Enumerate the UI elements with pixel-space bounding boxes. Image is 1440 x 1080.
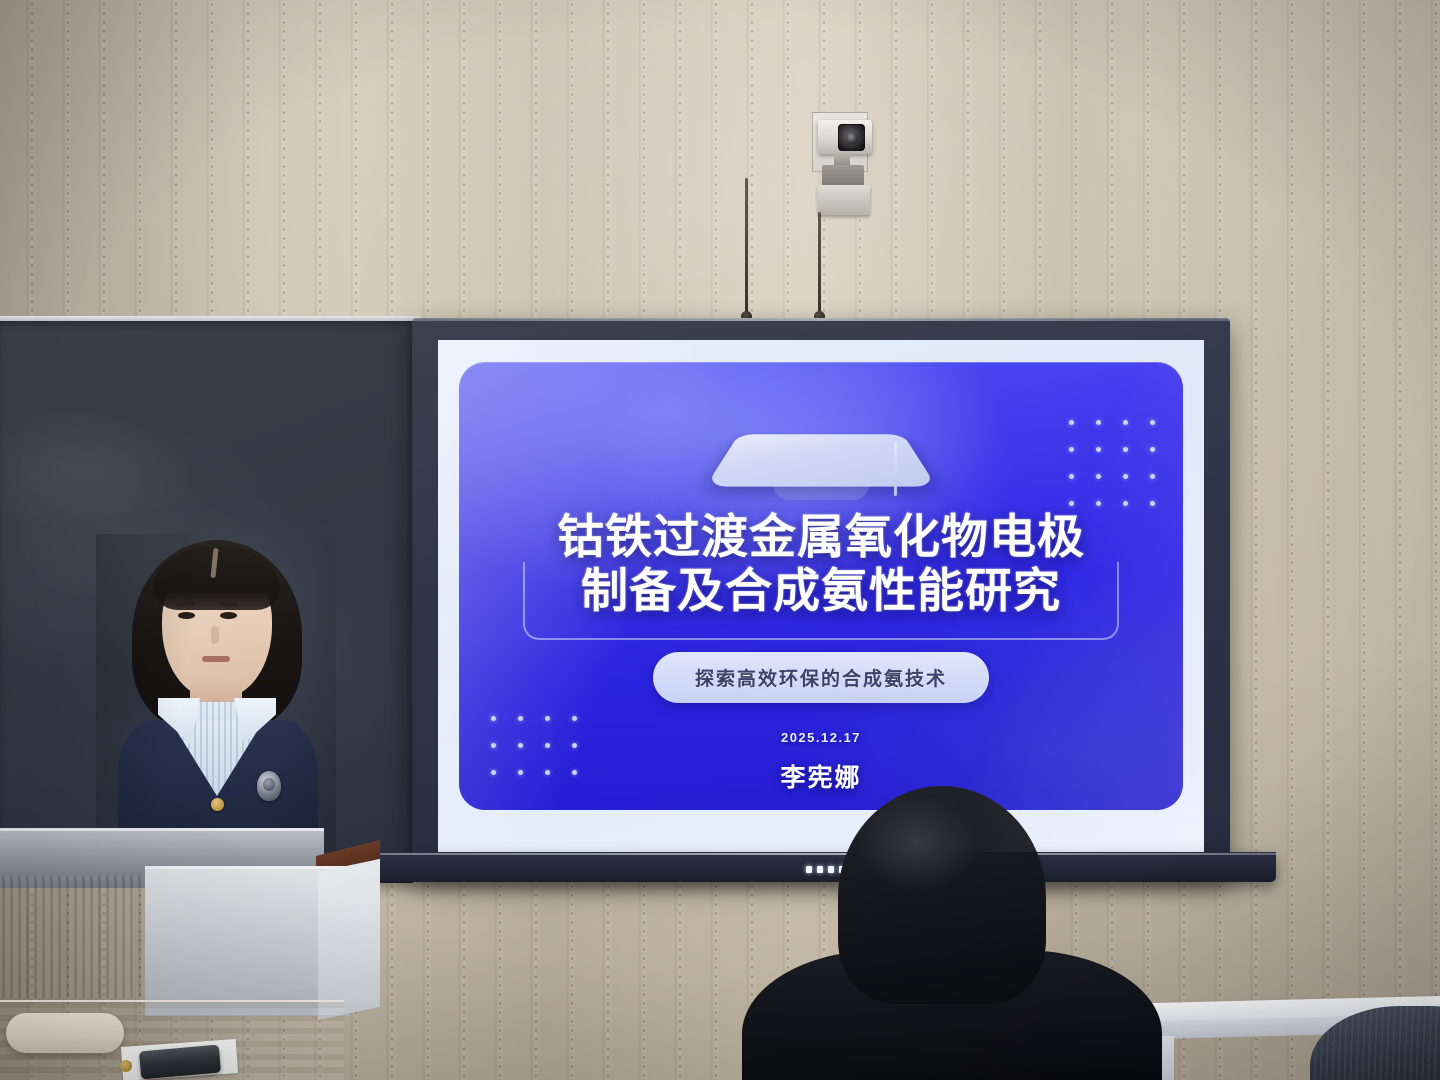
slide-subtitle-text: 探索高效环保的合成氨技术: [695, 669, 947, 690]
display-bottom-highlight: [366, 853, 1276, 855]
presenter-eye-left: [178, 612, 195, 619]
slide-subtitle-pill: 探索高效环保的合成氨技术: [653, 652, 989, 703]
camera-lens-icon: [838, 124, 865, 151]
camera-mount-bracket: [822, 165, 864, 187]
graduation-cap-icon: [711, 402, 931, 522]
camera-base: [818, 185, 870, 215]
pencil-case[interactable]: [6, 1013, 124, 1053]
lectern-wood-panel: [0, 876, 146, 998]
slide-presenter-name: 李宪娜: [780, 758, 861, 794]
audience-member-front-head: [838, 786, 1046, 1004]
slide-title-line-1: 钴铁过渡金属氧化物电极: [511, 510, 1131, 564]
presenter-eye-right: [220, 612, 237, 619]
keyring[interactable]: [120, 1060, 132, 1072]
graduation-cap-tassel: [894, 442, 897, 496]
classroom-scene: 钴铁过渡金属氧化物电极 制备及合成氨性能研究 探索高效环保的合成氨技术 2025…: [0, 0, 1440, 1080]
slide-date: 2025.12.17: [781, 730, 861, 745]
dot-grid-bottom-left: [491, 716, 577, 780]
antenna-left: [745, 178, 748, 316]
lectern-side-panel: [318, 859, 380, 1020]
slide-title: 钴铁过渡金属氧化物电极 制备及合成氨性能研究: [511, 510, 1131, 617]
graduation-cap-board: [705, 434, 936, 486]
presenter-nose: [211, 626, 219, 644]
antenna-right: [818, 212, 821, 316]
display-top-highlight: [412, 318, 1230, 321]
dot-grid-top-right: [1069, 420, 1155, 506]
slide-title-line-2: 制备及合成氨性能研究: [511, 564, 1131, 618]
presenter-mouth: [202, 656, 230, 662]
presentation-slide: 钴铁过渡金属氧化物电极 制备及合成氨性能研究 探索高效环保的合成氨技术 2025…: [438, 340, 1204, 852]
slide-content-card: 钴铁过渡金属氧化物电极 制备及合成氨性能研究 探索高效环保的合成氨技术 2025…: [459, 362, 1183, 810]
presenter-sweater-button: [211, 798, 224, 811]
school-emblem-pin: [257, 771, 281, 801]
